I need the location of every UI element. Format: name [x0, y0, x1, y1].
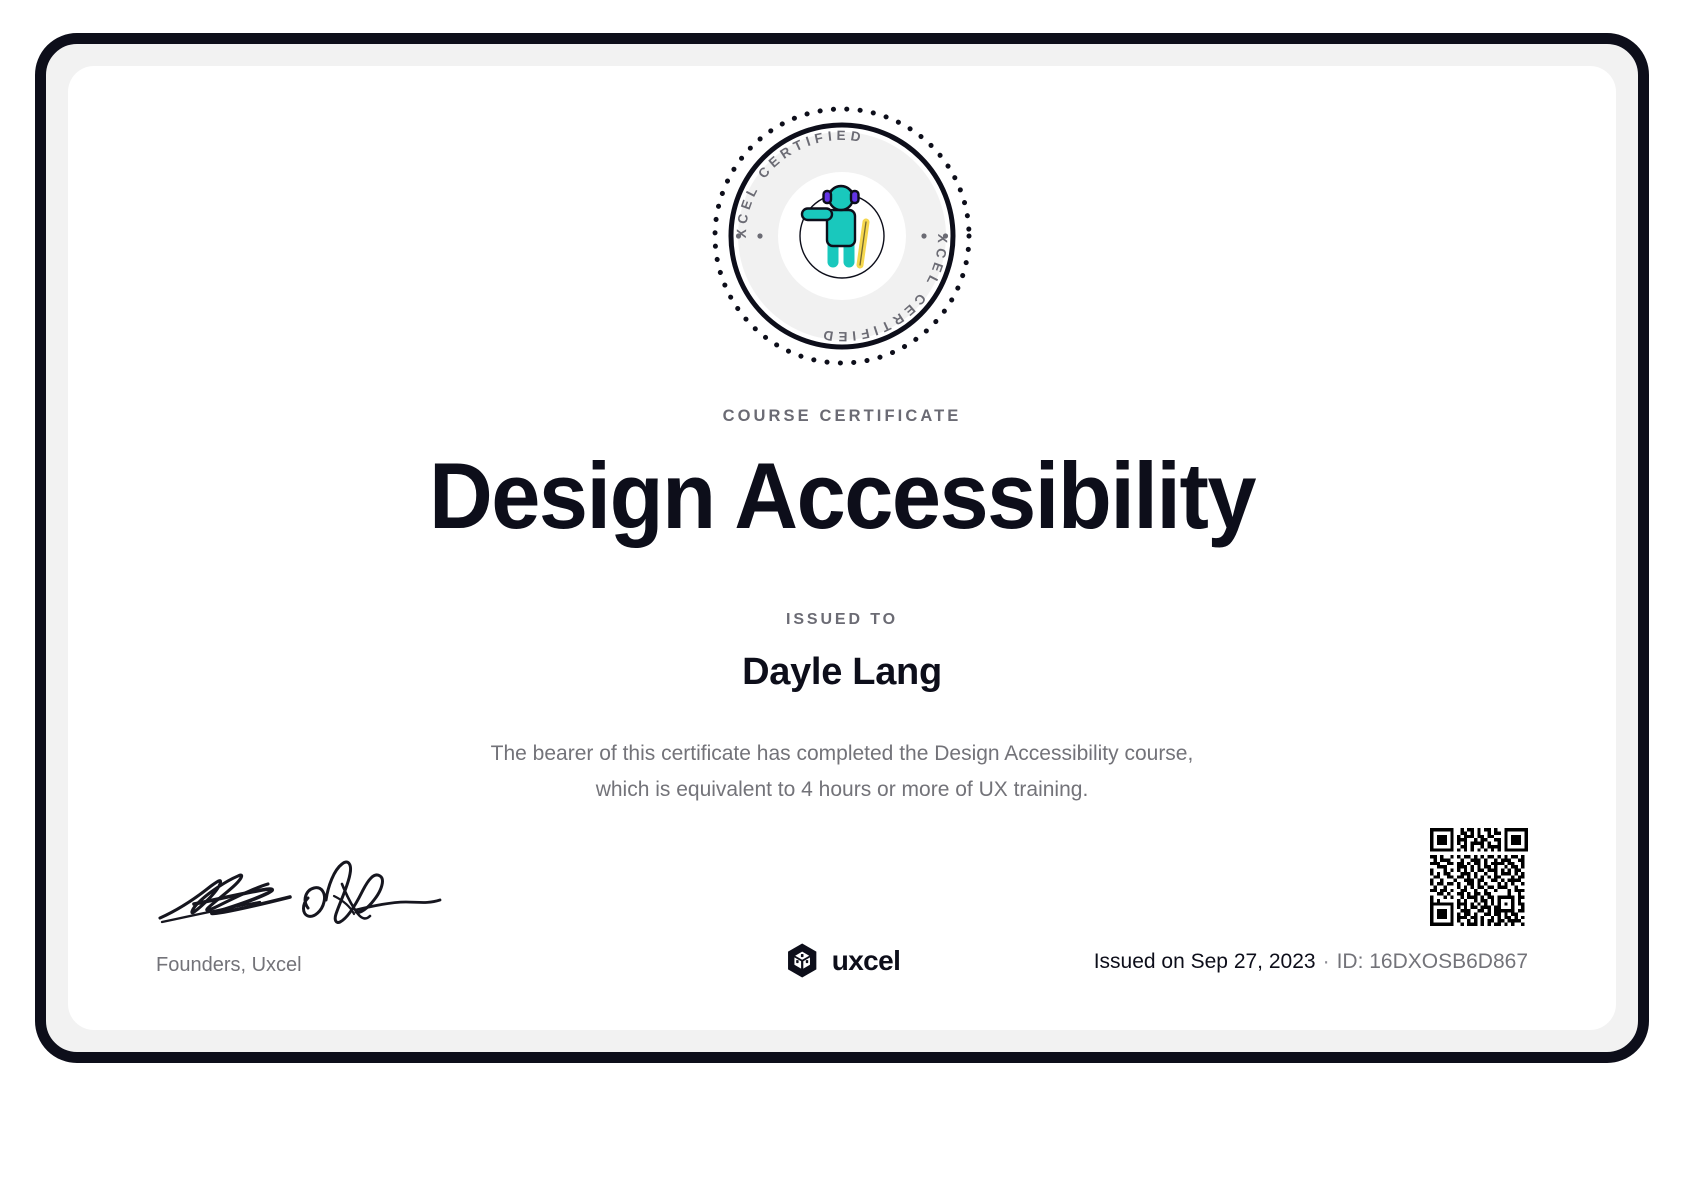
signature-graphic: [156, 856, 446, 934]
certificate-frame: UXCEL CERTIFIED UXCEL CERTIFIED: [35, 33, 1649, 1063]
verification-qr-code[interactable]: [1430, 828, 1528, 926]
uxcel-wordmark: uxcel: [832, 945, 901, 977]
badge-graphic: UXCEL CERTIFIED UXCEL CERTIFIED: [708, 102, 976, 370]
uxcel-brand-logo: uxcel: [784, 942, 901, 979]
uxcel-hexagon-cube-icon: [784, 942, 821, 979]
certificate-title: Design Accessibility: [114, 444, 1569, 547]
description-line-2: which is equivalent to 4 hours or more o…: [432, 772, 1252, 808]
issue-separator: ·: [1323, 950, 1330, 973]
issue-info-line: Issued on Sep 27, 2023·ID: 16DXOSB6D867: [1094, 950, 1528, 974]
certificate-description: The bearer of this certificate has compl…: [432, 736, 1252, 808]
signature-caption: Founders, Uxcel: [156, 954, 302, 977]
uxcel-certified-badge: UXCEL CERTIFIED UXCEL CERTIFIED: [708, 102, 976, 370]
issued-to-label: ISSUED TO: [68, 611, 1616, 629]
recipient-name: Dayle Lang: [68, 651, 1616, 694]
ring-bullet-right: [943, 233, 948, 238]
qr-code-graphic: [1430, 828, 1528, 926]
course-certificate-label: COURSE CERTIFICATE: [68, 407, 1616, 426]
certificate-id: ID: 16DXOSB6D867: [1337, 950, 1528, 973]
ring-bullet-left: [736, 233, 741, 238]
certificate-panel: UXCEL CERTIFIED UXCEL CERTIFIED: [68, 66, 1616, 1030]
founder-signatures: [156, 856, 456, 936]
description-line-1: The bearer of this certificate has compl…: [432, 736, 1252, 772]
issued-on-text: Issued on Sep 27, 2023: [1094, 950, 1316, 973]
